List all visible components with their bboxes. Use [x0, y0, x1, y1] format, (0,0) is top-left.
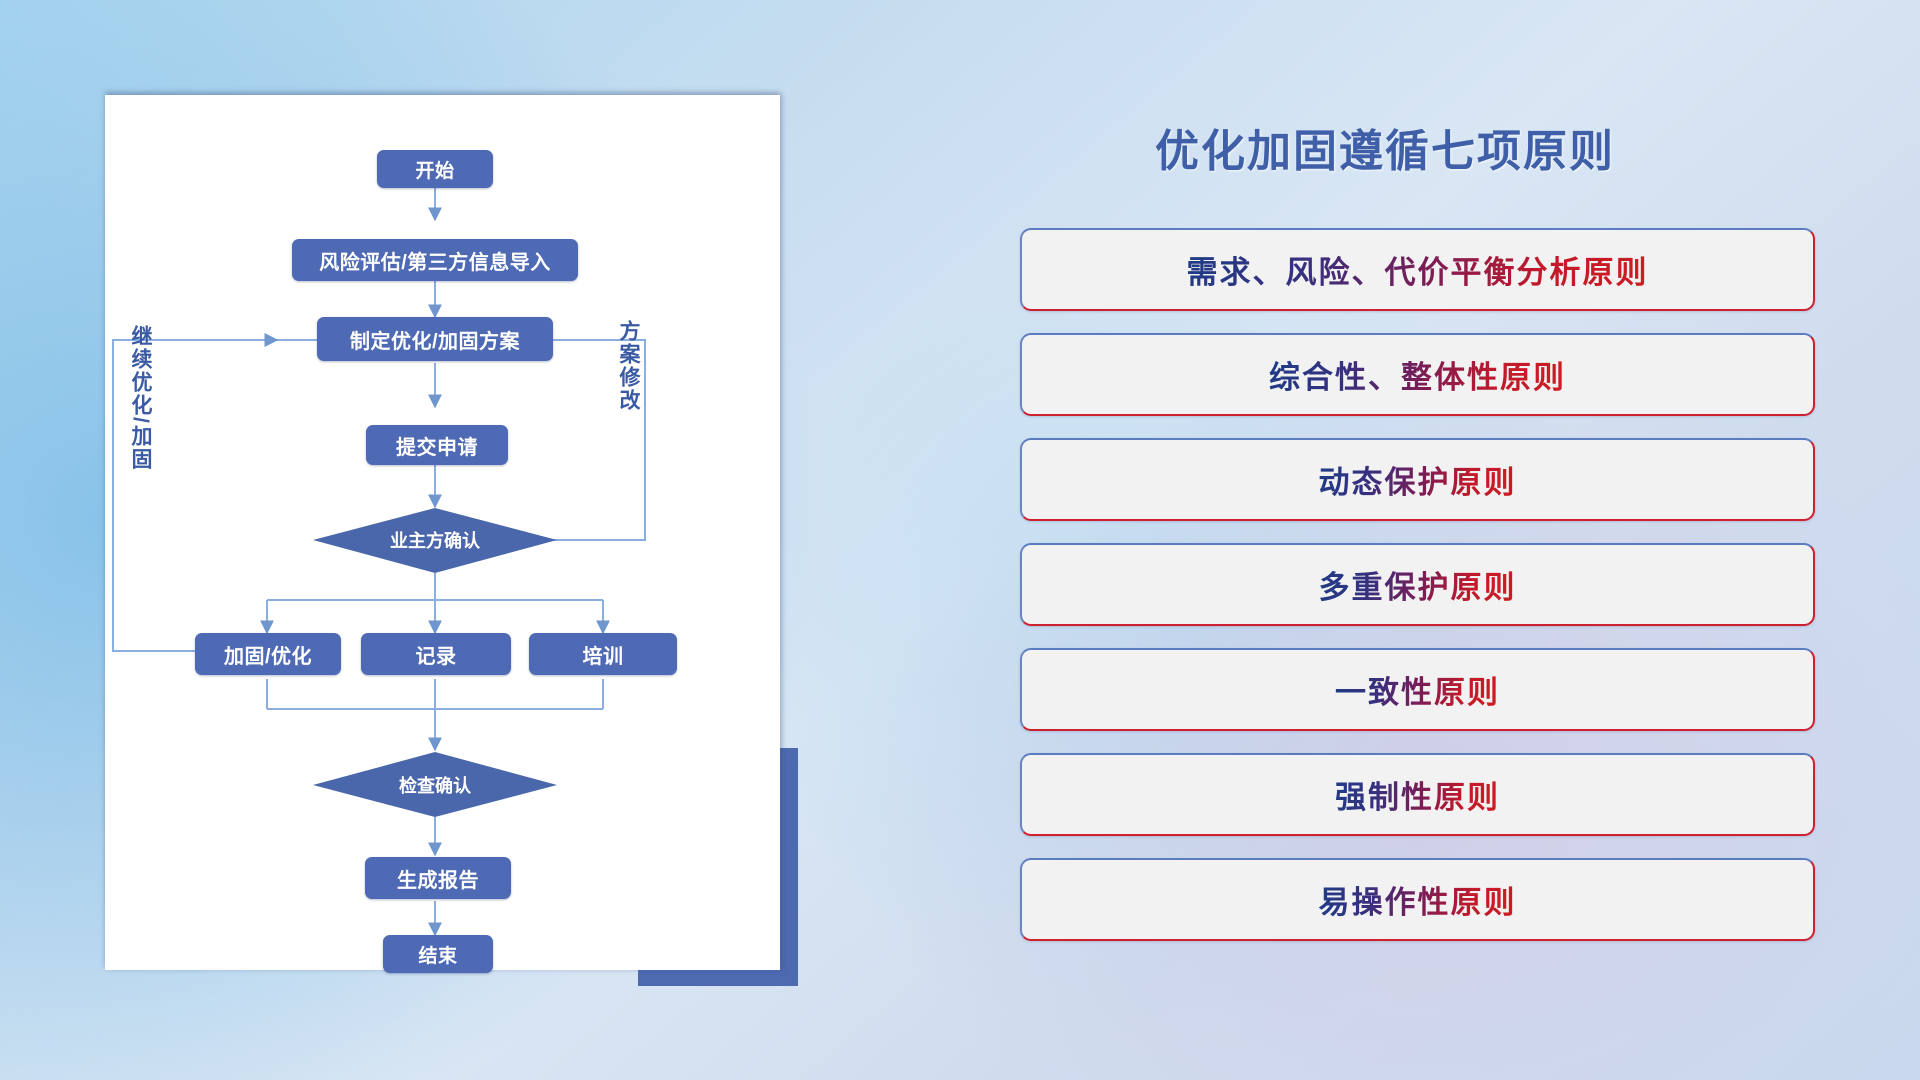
- flow-node-label: 记录: [416, 640, 457, 669]
- flow-node-label: 培训: [583, 640, 624, 669]
- flow-edge-label-right-loop: 方案修改: [613, 320, 643, 412]
- flow-node-end[interactable]: 结束: [383, 935, 493, 973]
- principle-label: 多重保护原则: [1319, 562, 1517, 607]
- flow-node-check-confirm[interactable]: 检查确认: [361, 770, 509, 800]
- principle-card[interactable]: 一致性原则: [1020, 648, 1815, 731]
- panel-title: 优化加固遵循七项原则: [1155, 115, 1615, 179]
- principle-label: 强制性原则: [1335, 772, 1500, 817]
- flow-node-label: 加固/优化: [224, 640, 312, 669]
- flow-node-start[interactable]: 开始: [377, 150, 493, 188]
- flow-node-label: 业主方确认: [390, 527, 480, 553]
- flow-node-training[interactable]: 培训: [529, 633, 677, 675]
- flow-node-plan[interactable]: 制定优化/加固方案: [317, 317, 553, 361]
- principle-card[interactable]: 多重保护原则: [1020, 543, 1815, 626]
- flowchart-card: 开始 风险评估/第三方信息导入 制定优化/加固方案 提交申请 业主方确认 加固/…: [105, 95, 780, 970]
- flow-node-label: 生成报告: [397, 864, 479, 893]
- principles-list: 需求、风险、代价平衡分析原则 综合性、整体性原则 动态保护原则 多重保护原则 一…: [1020, 228, 1815, 963]
- slide-canvas: 开始 风险评估/第三方信息导入 制定优化/加固方案 提交申请 业主方确认 加固/…: [0, 0, 1920, 1080]
- flow-node-label: 结束: [418, 941, 457, 968]
- principles-panel: 优化加固遵循七项原则 需求、风险、代价平衡分析原则 综合性、整体性原则 动态保护…: [1020, 95, 1840, 995]
- principle-card[interactable]: 综合性、整体性原则: [1020, 333, 1815, 416]
- principle-label: 动态保护原则: [1319, 457, 1517, 502]
- flow-node-label: 检查确认: [399, 772, 471, 798]
- flow-node-generate-report[interactable]: 生成报告: [365, 857, 511, 899]
- flow-node-submit-application[interactable]: 提交申请: [366, 425, 508, 465]
- flow-node-label: 提交申请: [396, 431, 478, 460]
- flow-node-label: 风险评估/第三方信息导入: [319, 246, 551, 275]
- principle-label: 易操作性原则: [1319, 877, 1517, 922]
- principle-card[interactable]: 动态保护原则: [1020, 438, 1815, 521]
- principle-card[interactable]: 需求、风险、代价平衡分析原则: [1020, 228, 1815, 311]
- flow-edge-label-left-loop: 继续优化/加固: [125, 325, 155, 471]
- flow-node-owner-confirm[interactable]: 业主方确认: [351, 525, 519, 555]
- principle-card[interactable]: 易操作性原则: [1020, 858, 1815, 941]
- principle-label: 需求、风险、代价平衡分析原则: [1187, 247, 1649, 292]
- flow-node-record[interactable]: 记录: [361, 633, 511, 675]
- principle-label: 综合性、整体性原则: [1269, 352, 1566, 397]
- flow-node-reinforce-optimize[interactable]: 加固/优化: [195, 633, 341, 675]
- principle-label: 一致性原则: [1335, 667, 1500, 712]
- flow-node-label: 制定优化/加固方案: [350, 325, 520, 354]
- flow-node-label: 开始: [415, 156, 454, 183]
- flow-node-risk-assessment[interactable]: 风险评估/第三方信息导入: [292, 239, 578, 281]
- principle-card[interactable]: 强制性原则: [1020, 753, 1815, 836]
